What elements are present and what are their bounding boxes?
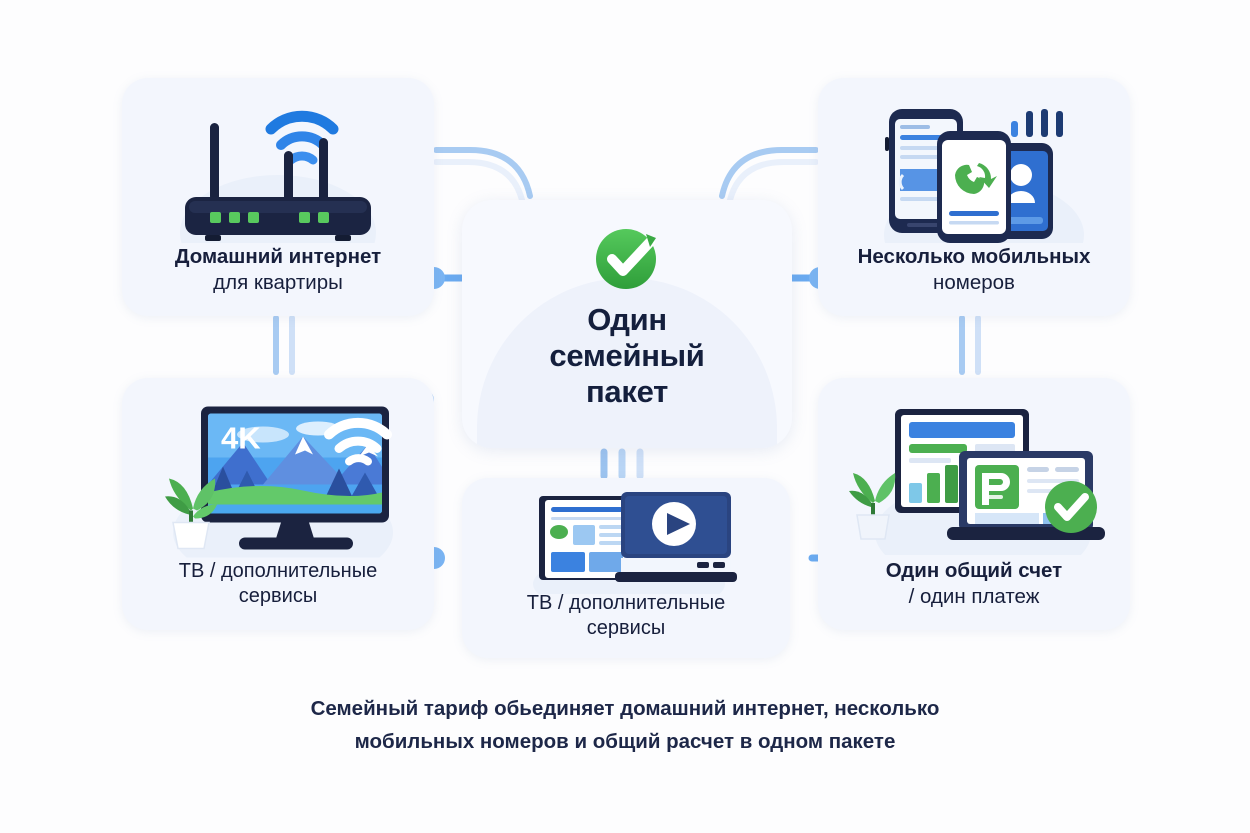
card-center-family-package[interactable]: Одинсемейныйпакет <box>462 200 792 448</box>
tv-art: 4K <box>122 392 434 559</box>
green-check-circle-icon <box>588 218 666 296</box>
tv-4k-badge: 4K <box>221 421 261 456</box>
laptop-invoice-icon <box>843 395 1105 555</box>
card-label: ТВ / дополнительные сервисы <box>462 591 790 642</box>
card-single-bill[interactable]: Один общий счет / один платеж <box>818 378 1130 630</box>
card-subtitle: для квартиры <box>132 270 424 296</box>
caption: Семейный тариф обьединяет домашний интер… <box>0 692 1250 758</box>
bill-art <box>818 392 1130 558</box>
connector-internet-center-shadow <box>436 162 522 200</box>
phones-art <box>818 92 1130 244</box>
card-title: ТВ / дополнительные <box>472 591 780 617</box>
tv-4k-icon: 4K <box>143 393 413 558</box>
card-title: Несколько мобильных <box>828 244 1120 270</box>
center-title-line: семейный <box>549 338 704 374</box>
infographic-canvas: Домашний интернет для квартиры <box>0 0 1250 833</box>
wifi-router-icon <box>153 93 403 243</box>
video-player-icon <box>511 484 741 594</box>
connector-internet-center <box>436 150 530 196</box>
video-art <box>462 488 790 591</box>
card-title: Домашний интернет <box>132 244 424 270</box>
center-title-line: пакет <box>549 374 704 410</box>
card-subtitle: номеров <box>828 270 1120 296</box>
card-label: Домашний интернет для квартиры <box>122 244 434 296</box>
card-mobile-numbers[interactable]: Несколько мобильных номеров <box>818 78 1130 316</box>
center-title: Одинсемейныйпакет <box>549 302 704 410</box>
connector-mobile-center-shadow <box>730 162 816 200</box>
card-subtitle: сервисы <box>472 616 780 642</box>
connector-mobile-center <box>722 150 816 196</box>
multiple-phones-icon <box>849 93 1099 243</box>
caption-line-1: Семейный тариф обьединяет домашний интер… <box>0 692 1250 725</box>
card-home-internet[interactable]: Домашний интернет для квартиры <box>122 78 434 316</box>
card-tv-services[interactable]: 4K ТВ / дополнительные сервисы <box>122 378 434 630</box>
card-title: Один общий счет <box>828 558 1120 584</box>
card-subtitle: сервисы <box>132 584 424 610</box>
center-title-line: Один <box>549 302 704 338</box>
router-art <box>122 92 434 244</box>
caption-line-2: мобильных номеров и общий расчет в одном… <box>0 725 1250 758</box>
card-subtitle: / один платеж <box>828 584 1120 610</box>
card-video-services[interactable]: ТВ / дополнительные сервисы <box>462 478 790 658</box>
card-label: Один общий счет / один платеж <box>818 558 1130 610</box>
card-label: Несколько мобильных номеров <box>818 244 1130 296</box>
card-label: ТВ / дополнительные сервисы <box>122 559 434 610</box>
card-title: ТВ / дополнительные <box>132 559 424 585</box>
